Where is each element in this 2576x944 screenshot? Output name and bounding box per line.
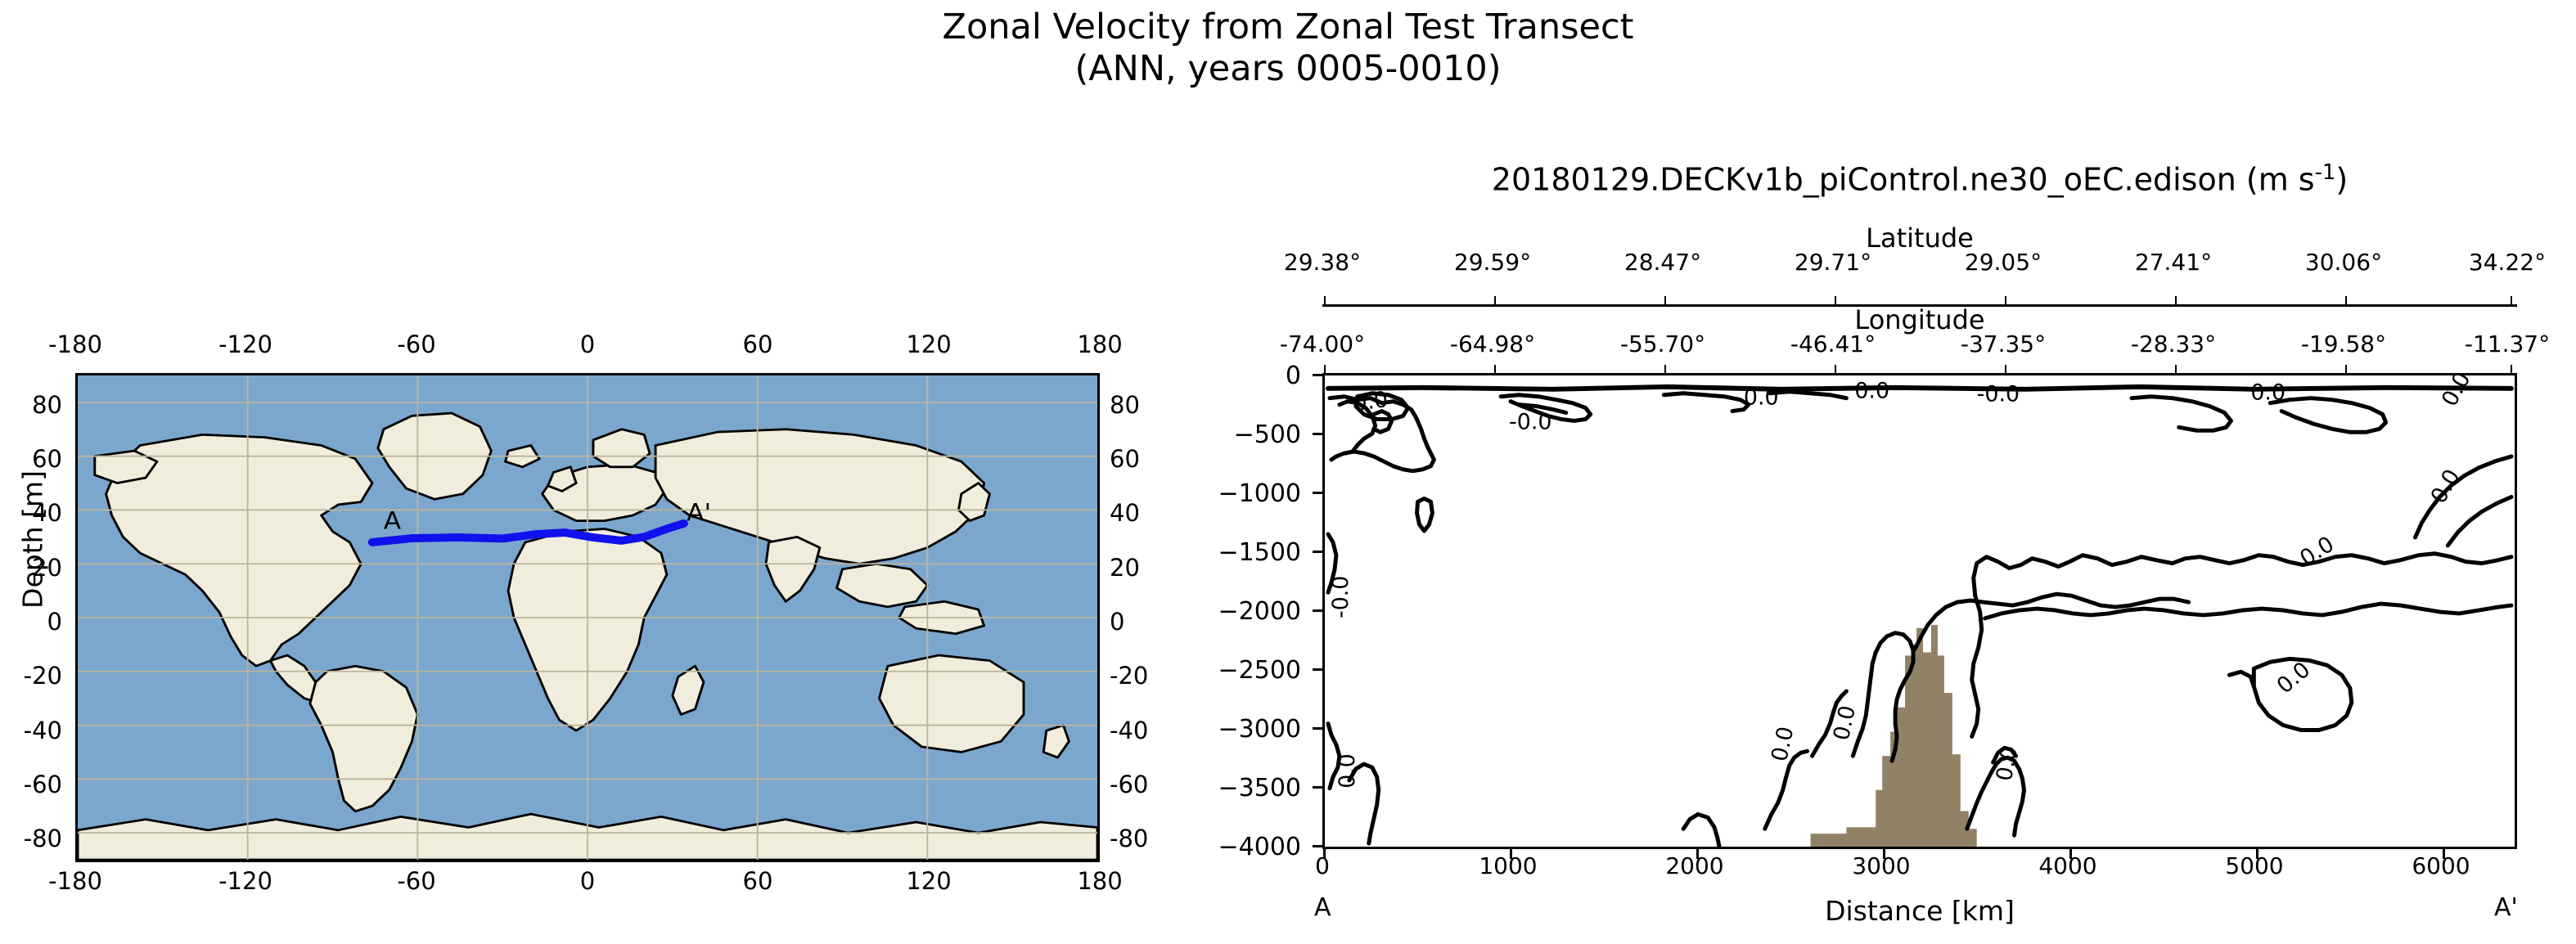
latitude-tickmark-1 (1494, 296, 1496, 304)
latitude-tickmark-3 (1835, 296, 1836, 304)
longitude-tickmark-1 (1494, 365, 1496, 373)
latitude-tick-7: 34.22° (2425, 249, 2576, 276)
longitude-tickmark-0 (1324, 365, 1326, 373)
longitude-tickmark-4 (2005, 365, 2006, 373)
depth-tickmark-3 (1313, 551, 1322, 553)
map-xtick-top-3: 0 (538, 330, 637, 358)
longitude-tick-7: -11.37° (2425, 330, 2576, 357)
distance-tickmark-4 (2069, 849, 2072, 859)
depth-tickmark-5 (1313, 668, 1322, 671)
transect-end-label: A' (2494, 893, 2518, 922)
contour-label-10: -0.0 (1328, 576, 1353, 618)
contour-label-3: 0.0 (1854, 379, 1889, 404)
longitude-tickmark-2 (1664, 365, 1666, 373)
distance-tickmark-6 (2443, 849, 2445, 859)
depth-tickmark-7 (1313, 786, 1322, 789)
map-xtick-bottom-2: -60 (367, 867, 466, 895)
depth-tick-7: −3500 (1146, 774, 1301, 802)
latitude-tickmark-7 (2511, 296, 2512, 304)
depth-tickmark-1 (1313, 433, 1322, 435)
map-ytick-left-5: -20 (0, 662, 62, 690)
depth-tick-5: −2500 (1146, 656, 1301, 685)
contour-label-4: -0.0 (1977, 382, 2020, 407)
contour-label-2: 0.0 (1744, 385, 1779, 411)
transect-panel-title-text: 20180129.DECKv1b_piControl.ne30_oEC.edis… (1492, 162, 2315, 198)
figure-suptitle: Zonal Velocity from Zonal Test Transect … (0, 7, 2576, 89)
figure-canvas: Zonal Velocity from Zonal Test Transect … (0, 0, 2576, 944)
distance-tickmark-1 (1510, 849, 1512, 859)
longitude-tick-5: -28.33° (2092, 330, 2255, 357)
longitude-tick-1: -64.98° (1411, 330, 1574, 357)
latitude-tickmark-2 (1664, 296, 1666, 304)
latitude-tick-4: 29.05° (1921, 249, 2085, 276)
map-xtick-bottom-3: 0 (538, 867, 637, 895)
distance-tickmark-0 (1323, 849, 1326, 859)
latitude-tick-6: 30.06° (2262, 249, 2425, 276)
longitude-tick-6: -19.58° (2262, 330, 2425, 357)
latitude-tick-1: 29.59° (1411, 249, 1574, 276)
suptitle-line-2: (ANN, years 0005-0010) (0, 48, 2576, 90)
map-xtick-top-6: 180 (1051, 330, 1149, 358)
longitude-tick-2: -55.70° (1581, 330, 1745, 357)
distance-axis-title: Distance [km] (1322, 895, 2517, 927)
latitude-tickmark-4 (2005, 296, 2006, 304)
longitude-tickmark-7 (2511, 365, 2512, 373)
transect-graphics: 0.0 -0.0 0.0 0.0 -0.0 0.0 0.0 0.0 0.0 0.… (1325, 375, 2515, 847)
depth-tick-4: −2000 (1146, 597, 1301, 626)
latitude-tick-2: 28.47° (1581, 249, 1745, 276)
depth-tick-0: 0 (1146, 362, 1301, 390)
contour-label-0: 0.0 (1352, 387, 1390, 417)
map-ytick-left-0: 80 (0, 391, 62, 419)
map-ytick-left-6: -40 (0, 717, 62, 744)
transect-panel-title: 20180129.DECKv1b_piControl.ne30_oEC.edis… (1322, 160, 2517, 198)
longitude-tick-4: -37.35° (1921, 330, 2085, 357)
contour-label-5: 0.0 (2250, 380, 2286, 406)
contour-label-11: 0.0 (1335, 753, 1360, 788)
latitude-tickmark-6 (2345, 296, 2347, 304)
map-xtick-bottom-0: -180 (26, 867, 124, 895)
transect-title-exponent: -1 (2315, 160, 2336, 185)
depth-tick-2: −1000 (1146, 479, 1301, 508)
map-xtick-top-2: -60 (367, 330, 466, 358)
contour-label-1: -0.0 (1509, 409, 1551, 434)
map-xtick-bottom-4: 60 (709, 867, 807, 895)
depth-tick-1: −500 (1146, 420, 1301, 449)
map-start-label: A (384, 507, 402, 535)
map-xtick-top-5: 120 (880, 330, 978, 358)
distance-tick-2: 2000 (1613, 852, 1777, 879)
depth-tickmark-6 (1313, 727, 1322, 730)
transect-contour-plot[interactable]: 0.0 -0.0 0.0 0.0 -0.0 0.0 0.0 0.0 0.0 0.… (1322, 373, 2517, 849)
depth-tick-6: −3000 (1146, 715, 1301, 744)
depth-tick-3: −1500 (1146, 538, 1301, 567)
latitude-tickmark-5 (2175, 296, 2177, 304)
depth-tickmark-0 (1313, 374, 1322, 376)
latitude-tick-0: 29.38° (1241, 249, 1404, 276)
map-graphics: A A' (78, 375, 1097, 860)
transect-title-suffix: ) (2335, 162, 2348, 198)
surface-contour-band (1328, 387, 2511, 389)
locator-map[interactable]: A A' (75, 373, 1100, 862)
distance-tick-1: 1000 (1426, 852, 1590, 879)
map-ytick-left-7: -60 (0, 771, 62, 798)
distance-tick-0: 0 (1241, 852, 1404, 879)
longitude-tickmark-3 (1835, 365, 1836, 373)
longitude-tickmark-5 (2175, 365, 2177, 373)
depth-tickmark-4 (1313, 609, 1322, 612)
map-xtick-bottom-1: -120 (196, 867, 295, 895)
latitude-tick-3: 29.71° (1751, 249, 1915, 276)
distance-tick-3: 3000 (1799, 852, 1963, 879)
map-xtick-bottom-6: 180 (1051, 867, 1149, 895)
map-ytick-left-8: -80 (0, 825, 62, 852)
longitude-tick-0: -74.00° (1241, 330, 1404, 357)
distance-tickmark-2 (1696, 849, 1699, 859)
distance-tick-4: 4000 (1986, 852, 2150, 879)
longitude-tick-3: -46.41° (1751, 330, 1915, 357)
latitude-tickmark-0 (1324, 296, 1326, 304)
map-xtick-top-0: -180 (26, 330, 124, 358)
map-ytick-right-1: 60 (1110, 445, 1188, 473)
map-xtick-bottom-5: 120 (880, 867, 978, 895)
map-ytick-right-0: 80 (1110, 391, 1188, 419)
latitude-tick-5: 27.41° (2092, 249, 2255, 276)
distance-tick-5: 5000 (2173, 852, 2336, 879)
depth-tickmark-2 (1313, 492, 1322, 494)
depth-tickmark-8 (1313, 845, 1322, 847)
map-end-label: A' (687, 499, 711, 527)
distance-tick-6: 6000 (2359, 852, 2523, 879)
suptitle-line-1: Zonal Velocity from Zonal Test Transect (943, 7, 1634, 47)
depth-axis-title: Depth [m] (17, 417, 49, 663)
distance-tickmark-5 (2256, 849, 2259, 859)
transect-start-label: A (1314, 893, 1331, 922)
map-xtick-top-4: 60 (709, 330, 807, 358)
longitude-tickmark-6 (2345, 365, 2347, 373)
map-xtick-top-1: -120 (196, 330, 295, 358)
distance-tickmark-3 (1883, 849, 1885, 859)
